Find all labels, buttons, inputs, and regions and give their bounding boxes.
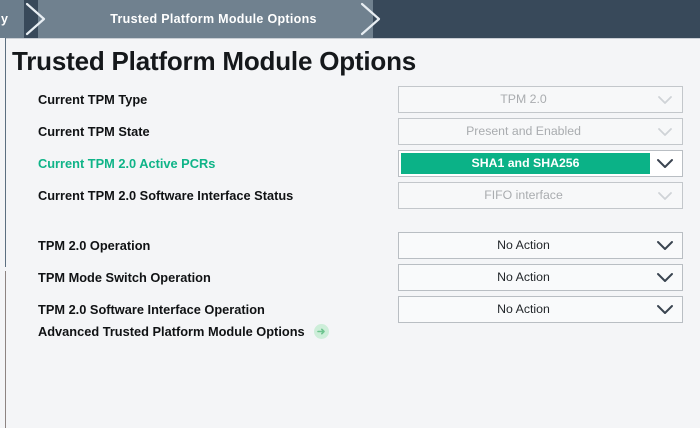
field-label: Current TPM State: [38, 118, 150, 146]
chevron-down-icon[interactable]: [648, 95, 682, 105]
page-content: Trusted Platform Module Options Current …: [0, 38, 700, 428]
select-value: TPM 2.0: [399, 87, 648, 112]
form-row: TPM 2.0 Operation No Action: [0, 232, 700, 260]
arrow-right-circle-icon: [314, 324, 329, 339]
select-value: No Action: [399, 265, 648, 290]
chevron-down-icon[interactable]: [650, 158, 680, 169]
chevron-down-icon[interactable]: [648, 191, 682, 201]
chevron-down-icon[interactable]: [648, 272, 682, 283]
field-label: Current TPM Type: [38, 86, 147, 114]
select-value: Present and Enabled: [399, 119, 648, 144]
form-row: Current TPM 2.0 Software Interface Statu…: [0, 182, 700, 210]
chevron-down-icon[interactable]: [648, 304, 682, 315]
tpm-mode-switch-operation-select[interactable]: No Action: [398, 264, 683, 291]
breadcrumb-item-previous[interactable]: y: [0, 0, 24, 38]
breadcrumb-active-label: Trusted Platform Module Options: [94, 12, 317, 26]
form-row: Current TPM 2.0 Active PCRs SHA1 and SHA…: [0, 150, 700, 178]
page-title: Trusted Platform Module Options: [12, 46, 416, 77]
chevron-down-icon[interactable]: [648, 240, 682, 251]
field-label: TPM 2.0 Operation: [38, 232, 150, 260]
chevron-down-icon[interactable]: [648, 127, 682, 137]
tpm-software-interface-operation-select[interactable]: No Action: [398, 296, 683, 323]
form-row: TPM Mode Switch Operation No Action: [0, 264, 700, 292]
select-value: No Action: [399, 297, 648, 322]
form-row: Current TPM Type TPM 2.0: [0, 86, 700, 114]
advanced-tpm-options-link[interactable]: Advanced Trusted Platform Module Options: [38, 319, 329, 343]
current-tpm-type-select[interactable]: TPM 2.0: [398, 86, 683, 113]
tpm-options-form: Current TPM Type TPM 2.0 Current TPM Sta…: [0, 86, 700, 328]
field-label: TPM Mode Switch Operation: [38, 264, 211, 292]
select-value: FIFO interface: [399, 183, 648, 208]
current-tpm-active-pcrs-select[interactable]: SHA1 and SHA256: [398, 150, 683, 177]
tpm-operation-select[interactable]: No Action: [398, 232, 683, 259]
current-tpm-software-interface-status-select[interactable]: FIFO interface: [398, 182, 683, 209]
select-selected-fill: SHA1 and SHA256: [401, 153, 650, 174]
breadcrumb-previous-label: y: [1, 12, 8, 26]
breadcrumb-item-active[interactable]: Trusted Platform Module Options: [38, 0, 373, 38]
current-tpm-state-select[interactable]: Present and Enabled: [398, 118, 683, 145]
divider: [5, 38, 700, 39]
bios-tpm-options-screen: y Trusted Platform Module Options Truste…: [0, 0, 700, 428]
breadcrumb: y Trusted Platform Module Options: [0, 0, 700, 38]
select-value: SHA1 and SHA256: [401, 153, 650, 174]
advanced-tpm-options-label: Advanced Trusted Platform Module Options: [38, 324, 305, 339]
field-label: Current TPM 2.0 Active PCRs: [38, 150, 215, 178]
form-row: Current TPM State Present and Enabled: [0, 118, 700, 146]
select-value: No Action: [399, 233, 648, 258]
field-label: Current TPM 2.0 Software Interface Statu…: [38, 182, 293, 210]
